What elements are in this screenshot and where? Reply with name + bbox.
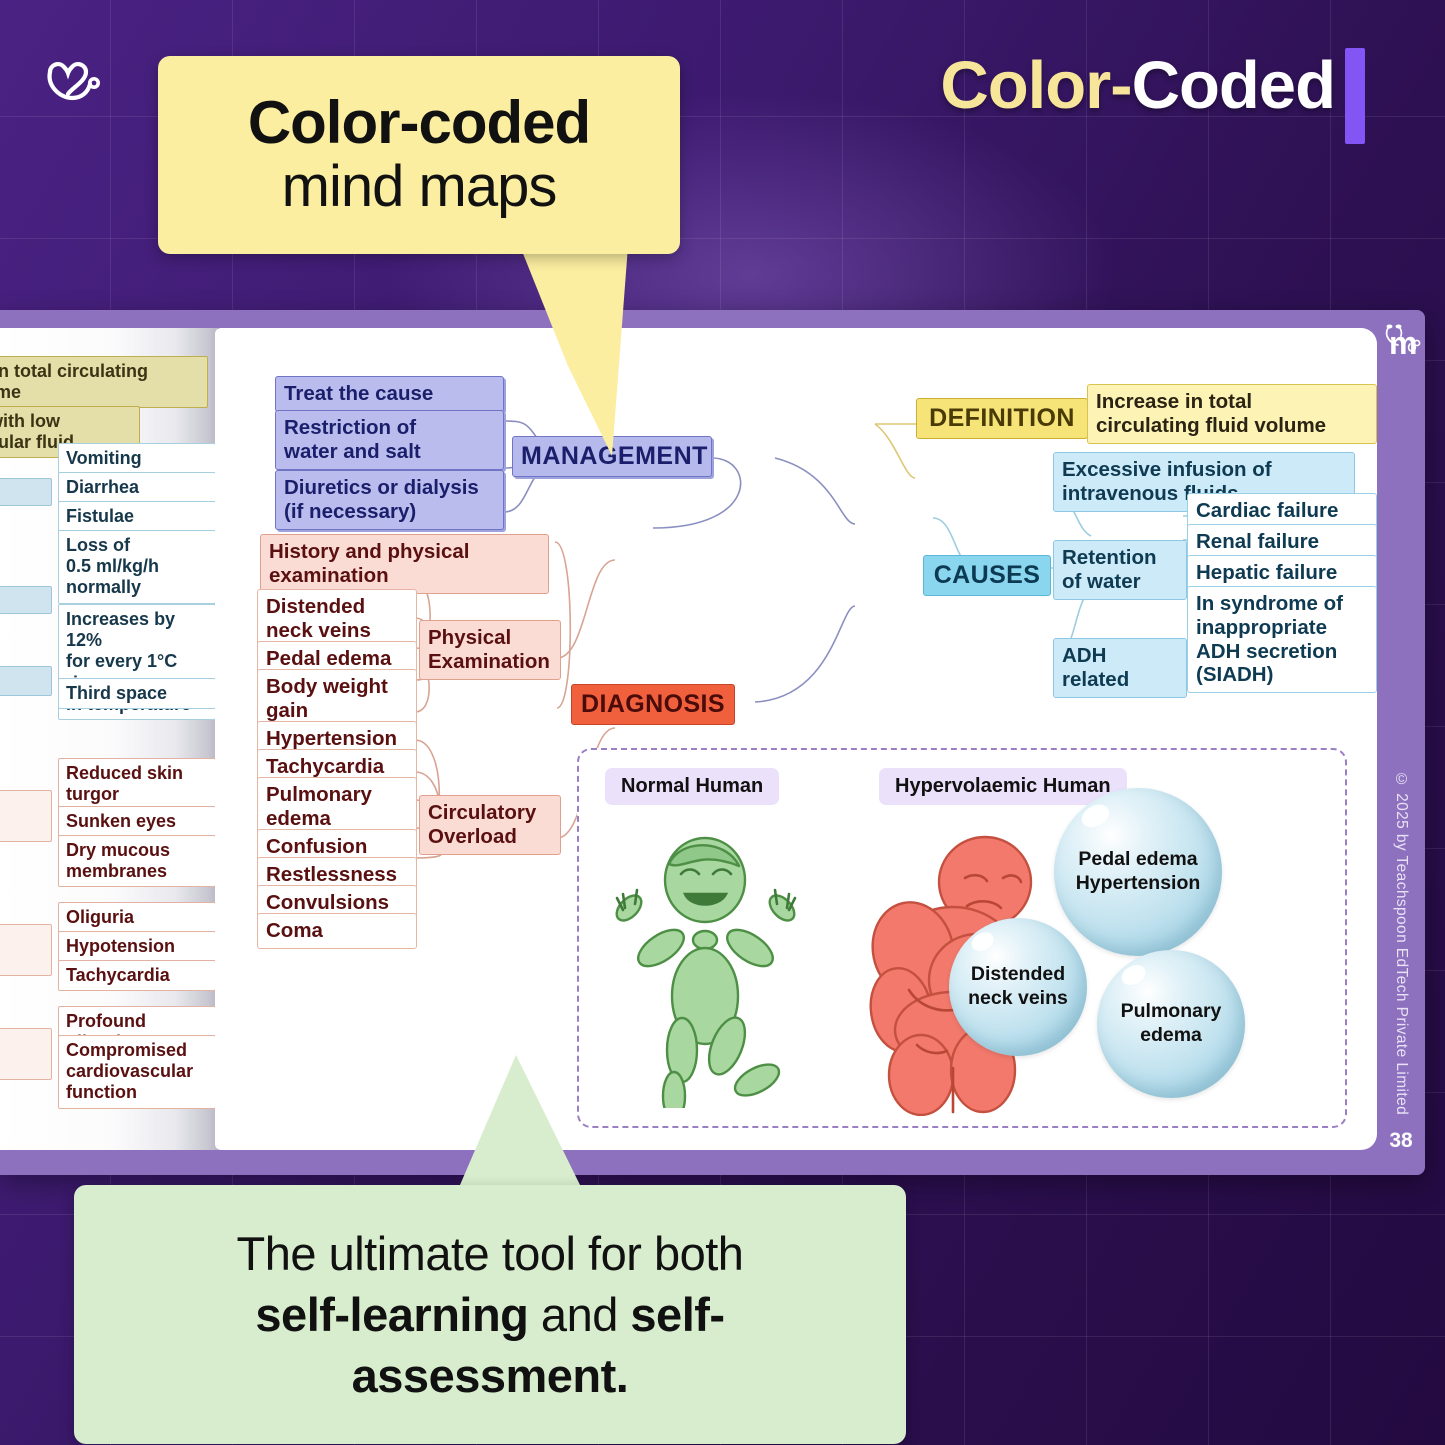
callout-top-tail bbox=[520, 246, 660, 456]
left-page-pink-g1-0: Reduced skin turgor bbox=[58, 758, 216, 810]
management-item-0[interactable]: Treat the cause bbox=[275, 376, 504, 412]
left-page-pink-g2-1: Hypotension bbox=[58, 931, 216, 962]
copyright-body: 2025 by Teachspoon EdTech Private Limite… bbox=[1393, 793, 1410, 1115]
left-page-pink-g2-2: Tachycardia bbox=[58, 960, 216, 991]
callout-self-learning: The ultimate tool for both self-learning… bbox=[74, 1185, 906, 1444]
left-page-partial: se in total circulating olume ts with lo… bbox=[0, 328, 218, 1150]
left-page-cyan-stub-1: ngs bbox=[0, 586, 52, 614]
diagnosis-label[interactable]: DIAGNOSIS bbox=[571, 684, 735, 725]
left-page-cyan-item-1: Diarrhea bbox=[58, 472, 216, 503]
callout-bottom-line-3: assessment. bbox=[118, 1345, 862, 1406]
illustration-label-hyper: Hypervolaemic Human bbox=[879, 768, 1127, 805]
callout-top-line-2: mind maps bbox=[188, 154, 650, 221]
symptom-bubble-1: Distended neck veins bbox=[949, 918, 1087, 1056]
symptom-bubble-2: Pulmonary edema bbox=[1097, 950, 1245, 1098]
callout-bottom-line-2: self-learning and self- bbox=[118, 1284, 862, 1345]
illustration-label-normal: Normal Human bbox=[605, 768, 779, 805]
headline-accent-bar bbox=[1345, 48, 1365, 144]
left-page-pink-stub-1: of ght bbox=[0, 924, 52, 976]
left-page-pink-g3-1: Compromised cardiovascular function bbox=[58, 1035, 216, 1109]
left-page-cyan-stub-0 bbox=[0, 478, 52, 506]
normal-human-figure bbox=[609, 828, 809, 1108]
left-page-pink-g1-2: Dry mucous membranes bbox=[58, 835, 216, 887]
page-title: Color-Coded bbox=[940, 52, 1335, 119]
left-page-pink-stub-2: of ght bbox=[0, 1028, 52, 1080]
callout-bottom-line-1: The ultimate tool for both bbox=[118, 1223, 862, 1284]
page-number: 38 bbox=[1389, 1129, 1412, 1153]
diagnosis-physical-exam-label[interactable]: Physical Examination bbox=[419, 620, 561, 680]
callout-bottom-bold-a: self-learning bbox=[255, 1288, 528, 1341]
diagnosis-history[interactable]: History and physical examination bbox=[260, 534, 549, 594]
left-page-pink-g2-0: Oliguria bbox=[58, 902, 216, 933]
headline-part-2: Coded bbox=[1132, 48, 1335, 123]
copyright-text: © 2025 by Teachspoon EdTech Private Limi… bbox=[1392, 771, 1410, 1115]
diagnosis-sign-2[interactable]: Body weight gain bbox=[257, 669, 417, 729]
page-gutter: m © 2025 by Teachspoon EdTech Private Li… bbox=[1377, 310, 1425, 1175]
left-page-cyan-stub-2: tion bbox=[0, 666, 52, 696]
management-item-2[interactable]: Diuretics or dialysis (if necessary) bbox=[275, 470, 504, 530]
definition-label[interactable]: DEFINITION bbox=[916, 398, 1088, 439]
management-item-1[interactable]: Restriction of water and salt bbox=[275, 410, 504, 470]
callout-bottom-tail bbox=[420, 1055, 580, 1200]
callout-top-line-1: Color-coded bbox=[188, 92, 650, 154]
left-page-cyan-item-3: Loss of 0.5 ml/kg/h normally bbox=[58, 530, 216, 604]
callout-bottom-bold-b: self- bbox=[630, 1288, 724, 1341]
causes-item-2[interactable]: ADH related bbox=[1053, 638, 1187, 698]
copyright-symbol: © bbox=[1393, 771, 1410, 788]
left-page-cyan-item-0: Vomiting bbox=[58, 443, 216, 474]
diagnosis-circulatory-label[interactable]: Circulatory Overload bbox=[419, 795, 561, 855]
heart-stethoscope-icon bbox=[40, 52, 112, 114]
callout-bottom-bold-c: assessment. bbox=[352, 1349, 629, 1402]
callout-color-coded-mind-maps: Color-coded mind maps bbox=[158, 56, 680, 254]
diagnosis-sign-0[interactable]: Distended neck veins bbox=[257, 589, 417, 649]
diagnosis-sign-9[interactable]: Coma bbox=[257, 913, 417, 949]
m-stethoscope-logo-gutter: m bbox=[1379, 322, 1423, 362]
left-page-pink-g1-1: Sunken eyes bbox=[58, 806, 216, 837]
headline-part-1: Color- bbox=[940, 48, 1131, 123]
definition-text[interactable]: Increase in total circulating fluid volu… bbox=[1087, 384, 1377, 444]
causes-item-1[interactable]: Retention of water bbox=[1053, 540, 1187, 600]
illustration-panel: Normal Human Hypervolaemic Human bbox=[577, 748, 1347, 1128]
symptom-bubble-0: Pedal edema Hypertension bbox=[1054, 788, 1222, 956]
causes-adh-child-0[interactable]: In syndrome of inappropriate ADH secreti… bbox=[1187, 586, 1377, 693]
left-page-pink-stub-0: of ght bbox=[0, 790, 52, 842]
left-page-cyan-item-2: Fistulae bbox=[58, 501, 216, 532]
causes-label[interactable]: CAUSES bbox=[923, 555, 1051, 596]
left-page-yellow-0: se in total circulating olume bbox=[0, 356, 208, 408]
left-page-cyan-item-5: Third space bbox=[58, 678, 216, 709]
mindmap-canvas: Treat the cause Restriction of water and… bbox=[215, 328, 1377, 1150]
callout-bottom-conj: and bbox=[528, 1288, 630, 1341]
diagnosis-sign-5[interactable]: Pulmonary edema bbox=[257, 777, 417, 837]
book-spread: se in total circulating olume ts with lo… bbox=[0, 310, 1425, 1175]
